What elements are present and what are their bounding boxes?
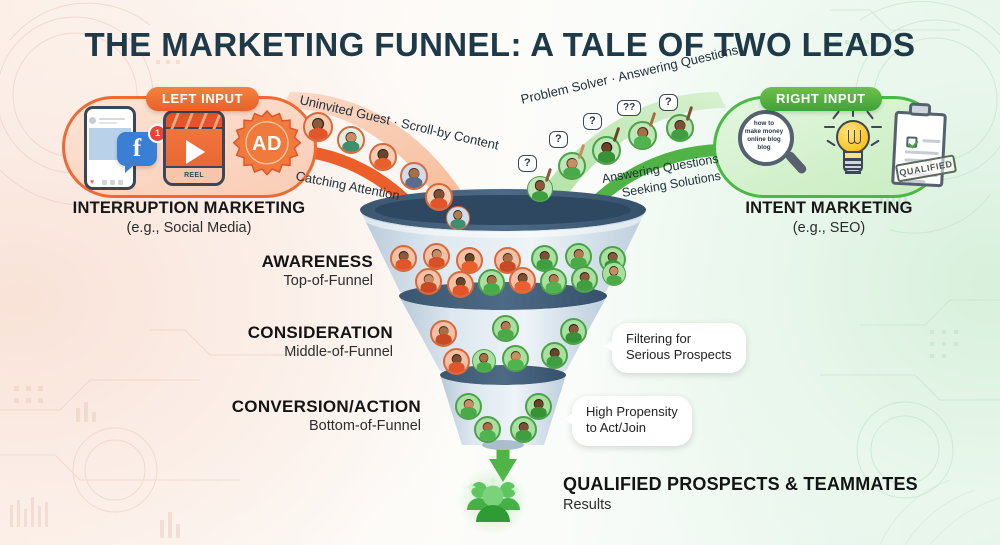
avatar-body — [435, 334, 452, 345]
avatar-body — [479, 430, 496, 441]
funnel-lead-awareness — [571, 266, 598, 293]
search-magnifier-icon: how tomake moneyonline blogblog — [736, 108, 810, 186]
filtering-callout-line2: Serious Prospects — [626, 347, 732, 363]
stage-label-awareness: AWARENESS Top-of-Funnel — [128, 252, 373, 289]
awareness-subtitle: Top-of-Funnel — [128, 273, 373, 289]
funnel-lead-awareness — [509, 267, 536, 294]
arc-lead-avatar-right — [592, 136, 621, 165]
left-input-badge: LEFT INPUT — [146, 87, 259, 111]
lightbulb-icon — [822, 106, 884, 188]
filtering-callout-line1: Filtering for — [626, 331, 732, 347]
funnel-lead-awareness — [423, 243, 450, 270]
avatar-body — [309, 128, 328, 140]
funnel-lead-awareness — [447, 271, 474, 298]
arc-lead-avatar-left — [303, 112, 333, 142]
result-label: QUALIFIED PROSPECTS & TEAMMATES Results — [563, 474, 918, 513]
avatar-body — [428, 257, 445, 268]
question-bubble: ? — [583, 113, 602, 130]
funnel-lead-consideration — [560, 318, 587, 345]
arc-lead-avatar-left — [425, 183, 453, 211]
avatar-head — [454, 211, 462, 219]
consideration-title: CONSIDERATION — [128, 323, 393, 343]
arc-lead-avatar-left — [446, 206, 470, 230]
avatar-body — [545, 282, 562, 293]
avatar-body — [507, 359, 524, 370]
avatar-body — [634, 136, 652, 148]
arc-lead-avatar-right — [527, 176, 553, 202]
question-bubble: ? — [518, 155, 537, 172]
avatar-body — [565, 332, 582, 343]
consideration-subtitle: Middle-of-Funnel — [128, 344, 393, 360]
right-input-caption: INTENT MARKETING (e.g., SEO) — [679, 199, 979, 236]
infographic-canvas: THE MARKETING FUNNEL: A TALE OF TWO LEAD… — [0, 0, 1000, 545]
awareness-title: AWARENESS — [128, 252, 373, 272]
stage-label-conversion: CONVERSION/ACTION Bottom-of-Funnel — [128, 397, 421, 434]
avatar-body — [477, 362, 492, 372]
avatar-head — [610, 267, 618, 275]
ad-badge-icon: AD — [233, 110, 301, 178]
propensity-callout-line2: to Act/Join — [586, 420, 678, 436]
avatar-body — [374, 158, 391, 169]
right-caption-sub: (e.g., SEO) — [679, 220, 979, 236]
avatar-body — [452, 285, 469, 296]
avatar-body — [395, 259, 412, 270]
avatar-body — [515, 430, 532, 441]
question-bubble: ?? — [617, 100, 641, 116]
filtering-callout: Filtering for Serious Prospects — [612, 323, 746, 373]
avatar-head — [480, 354, 488, 362]
avatar-body — [448, 362, 465, 373]
left-input-caption: INTERRUPTION MARKETING (e.g., Social Med… — [39, 199, 339, 236]
avatar-body — [546, 356, 563, 367]
avatar-body — [483, 283, 500, 294]
avatar-body — [514, 281, 531, 292]
reel-label: REEL — [166, 168, 222, 183]
right-input-badge: RIGHT INPUT — [760, 87, 882, 111]
question-bubble: ? — [659, 94, 678, 111]
arc-lead-avatar-right — [628, 121, 657, 150]
funnel-lead-awareness — [478, 269, 505, 296]
avatar-body — [497, 329, 514, 340]
avatar-head — [536, 181, 545, 190]
left-caption-sub: (e.g., Social Media) — [39, 220, 339, 236]
funnel-lead-consideration — [430, 320, 457, 347]
avatar-body — [430, 198, 447, 209]
conversion-title: CONVERSION/ACTION — [128, 397, 421, 417]
funnel-lead-consideration — [541, 342, 568, 369]
conversion-subtitle: Bottom-of-Funnel — [128, 418, 421, 434]
video-reel-icon: REEL — [163, 110, 225, 186]
search-query-text: how tomake moneyonline blogblog — [744, 120, 784, 152]
funnel-lead-awareness — [415, 268, 442, 295]
funnel-lead-conversion — [510, 416, 537, 443]
funnel-lead-conversion — [455, 393, 482, 420]
arc-lead-avatar-left — [400, 162, 428, 190]
funnel-lead-awareness — [390, 245, 417, 272]
funnel-lead-consideration — [443, 348, 470, 375]
funnel-lead-consideration — [502, 345, 529, 372]
arc-lead-avatar-right — [666, 114, 694, 142]
funnel-lead-consideration — [492, 315, 519, 342]
stage-label-consideration: CONSIDERATION Middle-of-Funnel — [128, 323, 393, 360]
avatar-body — [598, 151, 616, 163]
right-caption-title: INTENT MARKETING — [679, 199, 979, 218]
propensity-callout: High Propensity to Act/Join — [572, 396, 692, 446]
arc-lead-avatar-left — [337, 126, 365, 154]
avatar-body — [563, 167, 580, 178]
arc-lead-avatar-left — [369, 143, 397, 171]
ad-label: AD — [233, 110, 301, 178]
avatar-body — [342, 141, 359, 152]
qualified-team-icon — [462, 476, 524, 528]
funnel-lead-awareness — [540, 268, 567, 295]
funnel-lead-conversion — [474, 416, 501, 443]
funnel-lead-awareness — [602, 262, 626, 286]
qualified-clipboard-icon: QUALIFIED — [890, 102, 948, 190]
avatar-body — [532, 191, 548, 201]
avatar-body — [607, 275, 622, 285]
funnel-lead-awareness — [456, 247, 483, 274]
avatar-body — [405, 177, 422, 188]
avatar-body — [576, 280, 593, 291]
left-caption-title: INTERRUPTION MARKETING — [39, 199, 339, 218]
avatar-body — [451, 219, 466, 229]
result-title: QUALIFIED PROSPECTS & TEAMMATES — [563, 474, 918, 495]
propensity-callout-line1: High Propensity — [586, 404, 678, 420]
funnel-lead-conversion — [525, 393, 552, 420]
avatar-body — [460, 407, 477, 418]
arc-lead-avatar-right — [558, 152, 586, 180]
funnel-lead-consideration — [472, 349, 496, 373]
result-subtitle: Results — [563, 497, 918, 513]
avatar-body — [420, 282, 437, 293]
avatar-body — [530, 407, 547, 418]
social-phone-icon: ♥ f 1 — [84, 106, 136, 190]
avatar-body — [671, 129, 688, 140]
question-bubble: ? — [549, 131, 568, 148]
